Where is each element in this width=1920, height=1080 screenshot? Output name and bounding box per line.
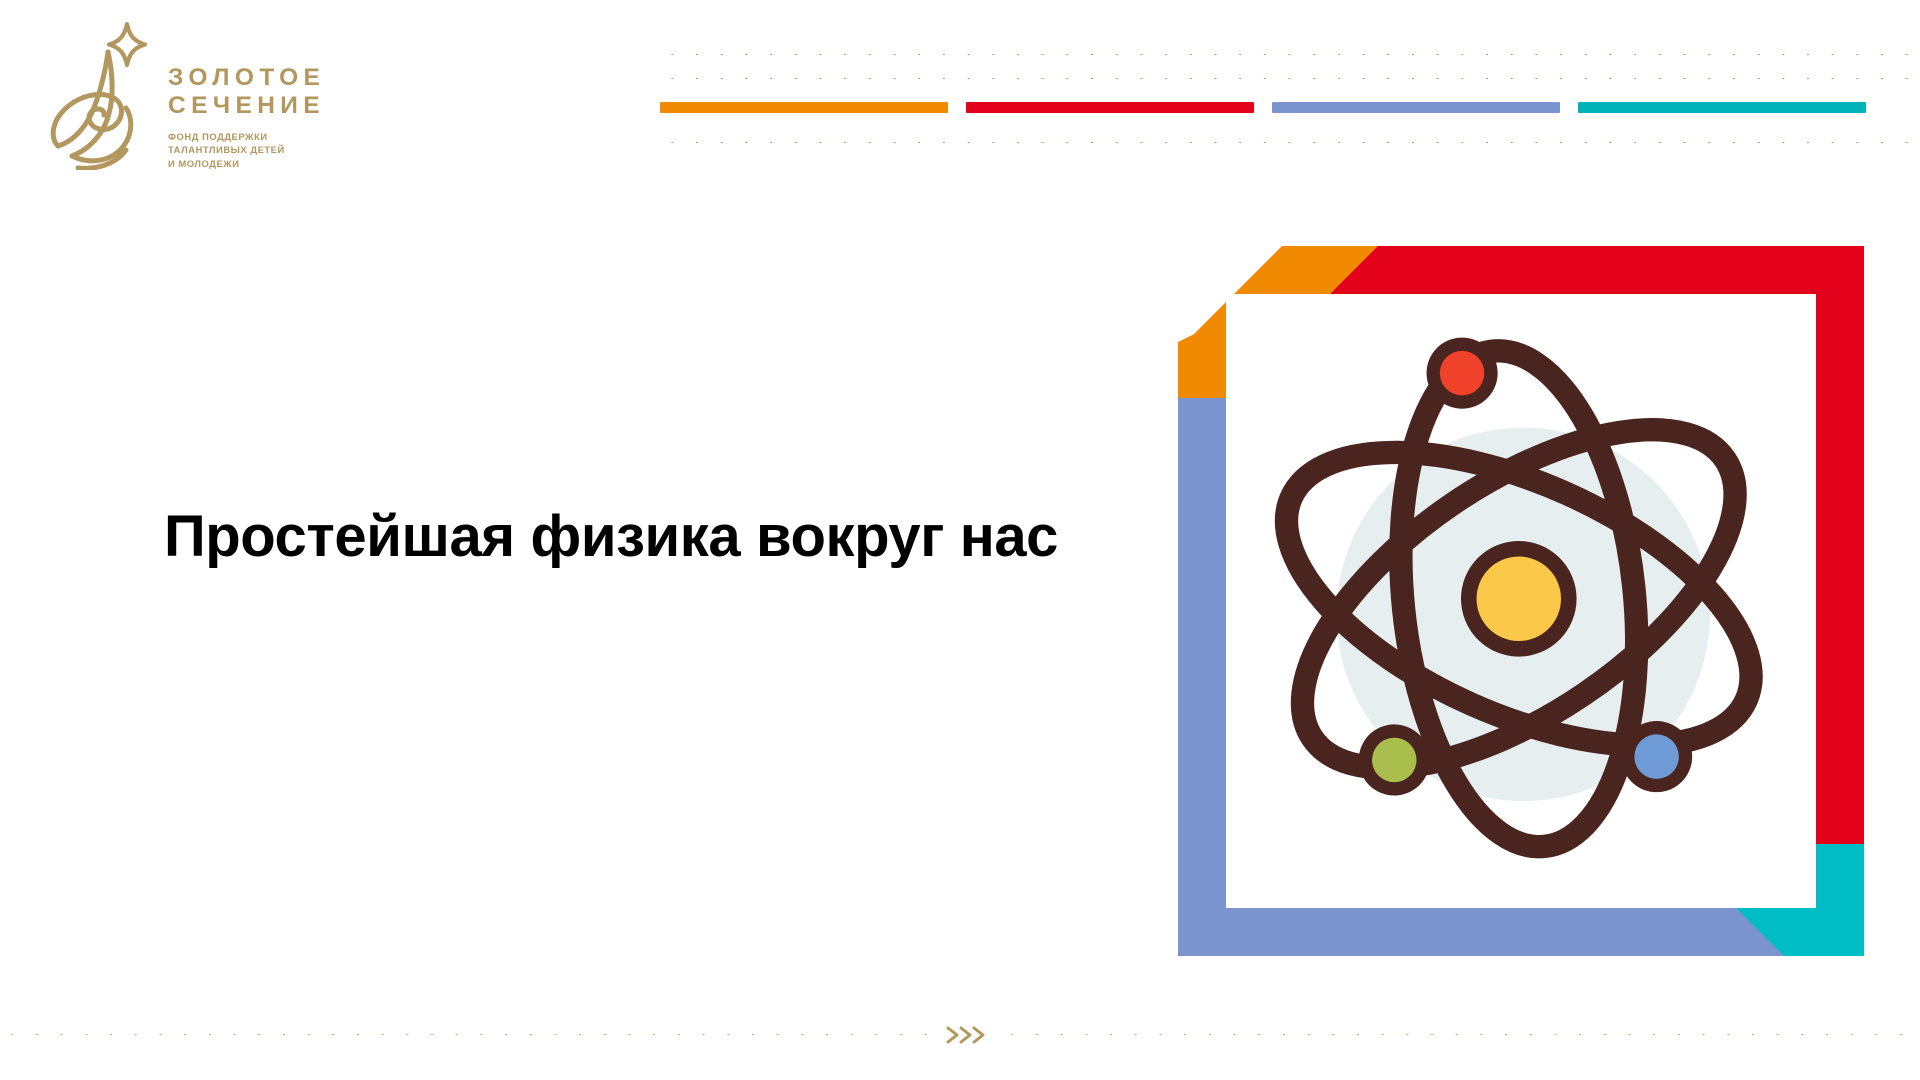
atom-nucleus <box>1477 557 1561 641</box>
header-color-bars <box>660 102 1920 113</box>
bar-blue <box>1272 102 1560 113</box>
slide-root: ЗОЛОТОЕ СЕЧЕНИЕ ФОНД ПОДДЕРЖКИ ТАЛАНТЛИВ… <box>0 0 1920 1080</box>
footer-dot-row-right <box>1000 1032 1920 1037</box>
logo-tagline-line-2: ТАЛАНТЛИВЫХ ДЕТЕЙ <box>168 143 348 156</box>
logo-wordmark: ЗОЛОТОЕ СЕЧЕНИЕ ФОНД ПОДДЕРЖКИ ТАЛАНТЛИВ… <box>168 64 348 170</box>
footer-decoration <box>0 1020 1920 1058</box>
logo-tagline-line-1: ФОНД ПОДДЕРЖКИ <box>168 130 348 143</box>
bar-orange <box>660 102 948 113</box>
logo-word-line-1: ЗОЛОТОЕ <box>168 64 348 92</box>
atom-electron-red <box>1427 338 1498 409</box>
atom-electron-blue <box>1621 721 1692 792</box>
artwork-frame <box>1178 246 1864 956</box>
atom-icon <box>1232 312 1810 890</box>
page-title: Простейшая физика вокруг нас <box>96 498 1126 576</box>
header-decoration <box>660 42 1920 152</box>
hand-with-sparkle-icon <box>44 18 152 170</box>
bar-red <box>966 102 1254 113</box>
logo-tagline: ФОНД ПОДДЕРЖКИ ТАЛАНТЛИВЫХ ДЕТЕЙ И МОЛОД… <box>168 130 348 170</box>
header-dot-row-2 <box>660 76 1920 81</box>
atom-electron-green <box>1359 724 1430 795</box>
brand-logo: ЗОЛОТОЕ СЕЧЕНИЕ ФОНД ПОДДЕРЖКИ ТАЛАНТЛИВ… <box>44 18 334 178</box>
header-dot-row-1 <box>660 52 1920 57</box>
logo-word-line-2: СЕЧЕНИЕ <box>168 92 348 120</box>
title-block: Простейшая физика вокруг нас <box>96 498 1126 576</box>
bar-teal <box>1578 102 1866 113</box>
header-dot-row-3 <box>660 140 1920 145</box>
triple-chevron-right-icon <box>942 1022 992 1048</box>
logo-tagline-line-3: И МОЛОДЕЖИ <box>168 157 348 170</box>
footer-dot-row-left <box>0 1032 930 1037</box>
